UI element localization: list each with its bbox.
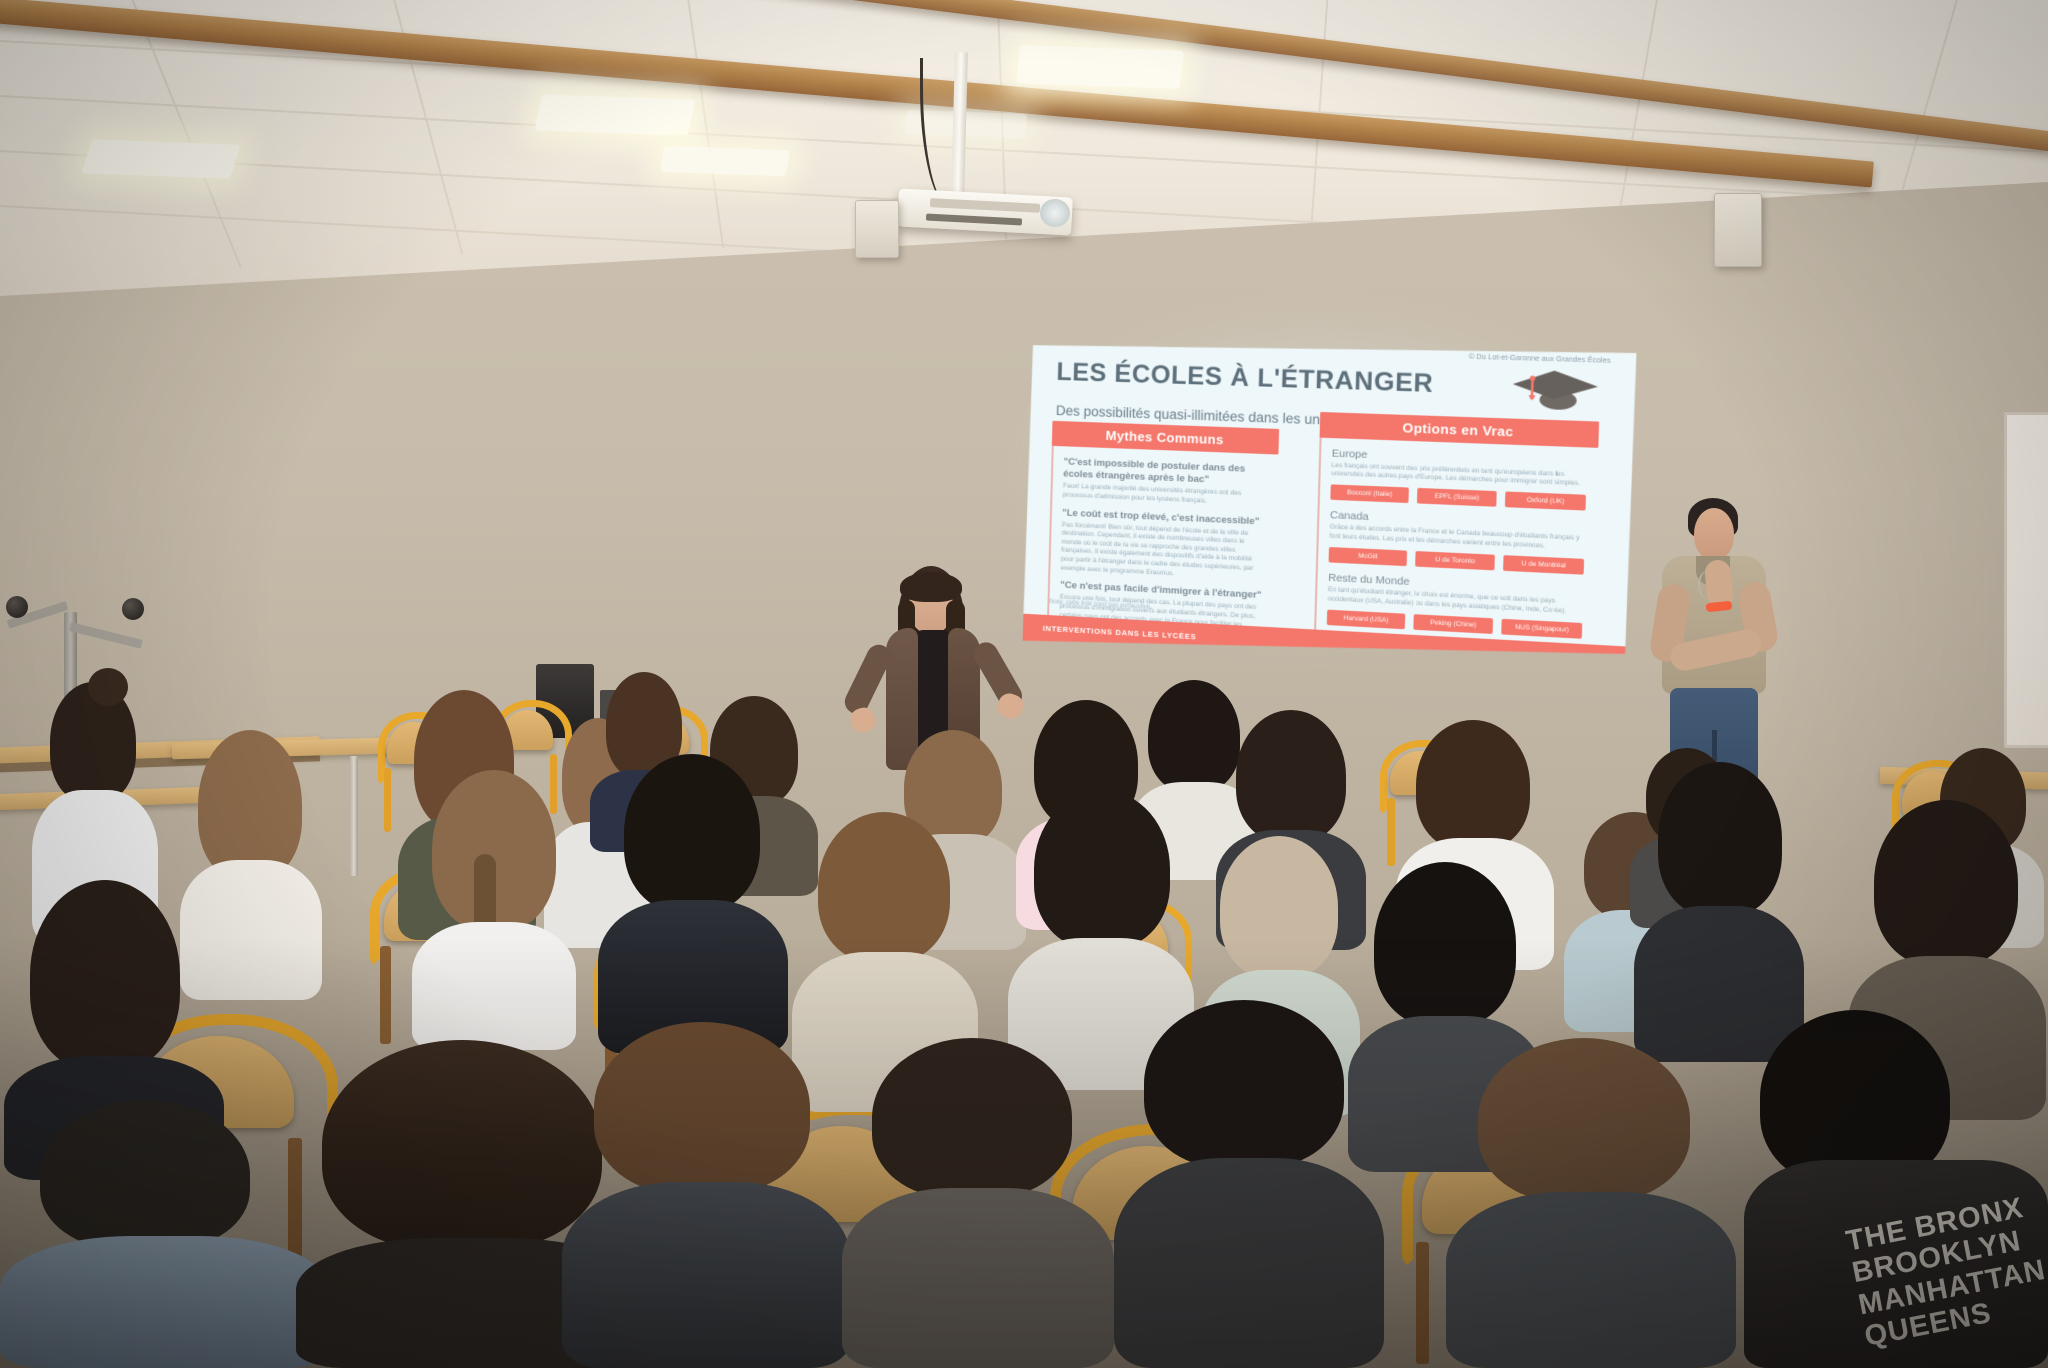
audience-member-bronx-shirt: THE BRONX BROOKLYN MANHATTAN QUEENS [1724, 1010, 2048, 1368]
audience-member [1108, 1000, 1388, 1368]
ceiling-light-1 [81, 139, 240, 178]
option-chip[interactable]: Harvard (USA) [1327, 610, 1406, 630]
ceiling-light-3 [1016, 45, 1183, 89]
wall-speaker-left [855, 200, 899, 258]
graduation-cap-icon [1508, 361, 1601, 418]
presenter-male-head [1694, 508, 1734, 560]
audience-member [1440, 1038, 1740, 1368]
audience-member [556, 1022, 856, 1368]
option-chip-row: Bocconi (Italie) EPFL (Suisse) Oxford (U… [1330, 485, 1586, 511]
option-chip[interactable]: McGill [1329, 547, 1408, 566]
option-chip[interactable]: EPFL (Suisse) [1417, 488, 1497, 507]
coat-rack-hook-right [122, 598, 144, 620]
audience-member [838, 1038, 1118, 1368]
classroom-presentation-photo: © Du Lot-et-Garonne aux Grandes Écoles L… [0, 0, 2048, 1368]
option-chip[interactable]: U de Montréal [1503, 556, 1584, 576]
coat-rack-hook-left [6, 596, 28, 618]
audience-member [592, 754, 792, 1054]
presenter-female-hair-front [900, 572, 962, 602]
options-panel: Options en Vrac Europe Les français ont … [1314, 412, 1599, 651]
option-chip-row: McGill U de Toronto U de Montréal [1329, 547, 1585, 575]
ceiling-light-2 [535, 94, 696, 135]
slide-title: LES ÉCOLES À L'ÉTRANGER [1056, 358, 1434, 399]
option-chip[interactable]: NUS (Singapour) [1501, 619, 1582, 639]
presenter-male-necklace [1698, 570, 1720, 600]
options-panel-body: Europe Les français ont souvent des prix… [1314, 437, 1599, 650]
wall-speaker-right [1714, 193, 1762, 267]
option-chip[interactable]: Bocconi (Italie) [1330, 485, 1409, 504]
table-leg-1 [350, 756, 358, 876]
whiteboard [2004, 412, 2048, 748]
option-chip[interactable]: Oxford (UK) [1505, 492, 1586, 511]
slide-footer-label: INTERVENTIONS DANS LES LYCÉES [1043, 624, 1197, 642]
projected-slide: © Du Lot-et-Garonne aux Grandes Écoles L… [1023, 336, 1637, 675]
myth-answer: Pas forcément! Bien sûr, tout dépend de … [1061, 521, 1266, 583]
option-chip[interactable]: U de Toronto [1415, 551, 1495, 570]
option-chip[interactable]: Peking (Chine) [1413, 614, 1493, 634]
audience-member [404, 770, 584, 1050]
ceiling-light-4 [660, 146, 790, 176]
